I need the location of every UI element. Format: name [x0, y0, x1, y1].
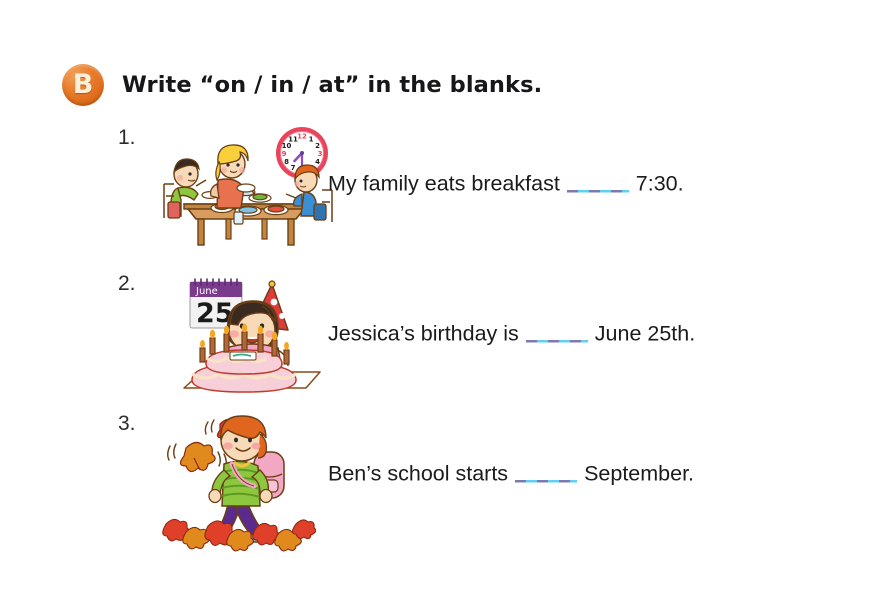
- question-row-1: 1. 12 1 2 3 4 5 6 7 8: [118, 126, 818, 261]
- svg-text:8: 8: [284, 158, 289, 166]
- sentence-2-before: Jessica’s birthday is: [328, 322, 519, 346]
- ground-leaves: [163, 519, 316, 550]
- svg-text:7: 7: [291, 164, 296, 172]
- sentence-1-after: 7:30.: [636, 172, 684, 196]
- sentence-3-before: Ben’s school starts: [328, 462, 508, 486]
- sentence-3: Ben’s school startsSeptember.: [328, 460, 694, 487]
- instruction-text: Write “on / in / at” in the blanks.: [122, 72, 542, 98]
- sentence-1: My family eats breakfast7:30.: [328, 170, 684, 197]
- svg-text:12: 12: [297, 133, 307, 141]
- question-number-1: 1.: [118, 126, 136, 150]
- svg-text:1: 1: [309, 136, 314, 144]
- question-row-2: 2. June: [118, 272, 818, 407]
- sentence-2: Jessica’s birthday isJune 25th.: [328, 320, 695, 347]
- svg-text:11: 11: [288, 136, 298, 144]
- mother-figure: [211, 145, 255, 208]
- calendar-month-label: June: [195, 286, 218, 297]
- svg-text:3: 3: [318, 150, 323, 158]
- illustration-boy-walking-in-autumn-leaves: [156, 412, 316, 552]
- svg-text:9: 9: [282, 150, 287, 158]
- exercise-header: B Write “on / in / at” in the blanks.: [62, 64, 542, 106]
- birthday-scene-svg: June 25: [156, 272, 331, 402]
- answer-blank-3[interactable]: [515, 460, 577, 483]
- answer-blank-2[interactable]: [526, 320, 588, 343]
- question-row-3: 3.: [118, 412, 818, 557]
- svg-text:4: 4: [315, 158, 320, 166]
- question-number-2: 2.: [118, 272, 136, 296]
- answer-blank-1[interactable]: [567, 170, 629, 193]
- svg-text:2: 2: [315, 142, 320, 150]
- sentence-3-after: September.: [584, 462, 694, 486]
- illustration-birthday-girl-with-cake: June 25: [156, 272, 331, 402]
- question-number-3: 3.: [118, 412, 136, 436]
- section-badge: B: [62, 64, 104, 106]
- sentence-2-after: June 25th.: [595, 322, 695, 346]
- autumn-boy-svg: [156, 412, 316, 552]
- illustration-family-eating-breakfast: 12 1 2 3 4 5 6 7 8 9 10 11: [156, 126, 341, 251]
- sentence-1-before: My family eats breakfast: [328, 172, 560, 196]
- section-badge-letter: B: [73, 71, 94, 98]
- family-breakfast-svg: 12 1 2 3 4 5 6 7 8 9 10 11: [156, 126, 341, 251]
